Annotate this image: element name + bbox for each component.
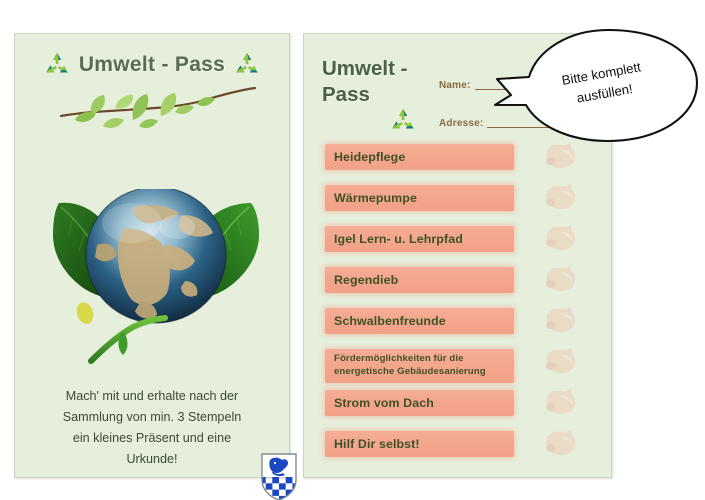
right-card-title-line1: Umwelt -	[322, 56, 440, 82]
list-item[interactable]: Fördermöglichkeiten für die energetische…	[325, 349, 595, 390]
adresse-field-label: Adresse:	[439, 118, 483, 130]
item-bar[interactable]: Schwalbenfreunde	[325, 308, 514, 334]
left-card-title: Umwelt - Pass	[79, 53, 225, 77]
body-line: Sammlung von min. 3 Stempeln	[31, 407, 273, 428]
pig-stamp-icon	[540, 182, 580, 216]
item-label: Heidepflege	[334, 150, 405, 164]
pig-stamp-icon	[540, 305, 580, 339]
page-canvas: Umwelt - Pass	[0, 0, 705, 500]
list-item[interactable]: Wärmepumpe	[325, 185, 595, 226]
item-label: Strom vom Dach	[334, 396, 434, 410]
pig-stamp-icon	[540, 223, 580, 257]
callout-bubble: Bitte komplett ausfüllen!	[489, 24, 703, 148]
item-bar[interactable]: Fördermöglichkeiten für die energetische…	[325, 349, 514, 383]
left-card-body-text: Mach' mit und erhalte nach der Sammlung …	[31, 386, 273, 471]
item-label: Regendieb	[334, 273, 398, 287]
pig-stamp-icon	[540, 264, 580, 298]
leafy-branch-icon	[55, 86, 261, 132]
list-item[interactable]: Igel Lern- u. Lehrpfad	[325, 226, 595, 267]
left-pass-card: Umwelt - Pass	[14, 33, 290, 478]
earth-globe-with-leaves-icon	[37, 189, 275, 379]
item-bar[interactable]: Regendieb	[325, 267, 514, 293]
recycle-icon	[232, 50, 262, 80]
list-item[interactable]: Hilf Dir selbst!	[325, 431, 595, 472]
list-item[interactable]: Regendieb	[325, 267, 595, 308]
item-bar[interactable]: Strom vom Dach	[325, 390, 514, 416]
list-item[interactable]: Schwalbenfreunde	[325, 308, 595, 349]
item-label: Hilf Dir selbst!	[334, 437, 420, 451]
left-card-header: Umwelt - Pass	[15, 50, 289, 80]
item-bar[interactable]: Heidepflege	[325, 144, 514, 170]
item-label: Igel Lern- u. Lehrpfad	[334, 232, 463, 246]
list-item[interactable]: Strom vom Dach	[325, 390, 595, 431]
item-bar[interactable]: Igel Lern- u. Lehrpfad	[325, 226, 514, 252]
recycle-icon	[388, 106, 418, 141]
pig-stamp-icon	[540, 387, 580, 421]
item-bar[interactable]: Hilf Dir selbst!	[325, 431, 514, 457]
pig-stamp-icon	[540, 428, 580, 462]
body-line: Urkunde!	[31, 449, 273, 470]
item-bar[interactable]: Wärmepumpe	[325, 185, 514, 211]
item-label: Schwalbenfreunde	[334, 314, 446, 328]
pig-stamp-icon	[540, 346, 580, 380]
item-label: Fördermöglichkeiten für die energetische…	[334, 353, 514, 379]
name-field-label: Name:	[439, 80, 471, 92]
coat-of-arms-icon	[259, 452, 299, 500]
body-line: Mach' mit und erhalte nach der	[31, 386, 273, 407]
item-label: Wärmepumpe	[334, 191, 417, 205]
right-card-title-line2: Pass	[322, 82, 440, 108]
recycle-icon	[42, 50, 72, 80]
right-card-title: Umwelt - Pass	[322, 56, 440, 108]
body-line: ein kleines Präsent und eine	[31, 428, 273, 449]
pass-item-list: Heidepflege	[325, 144, 595, 472]
list-item[interactable]: Heidepflege	[325, 144, 595, 185]
